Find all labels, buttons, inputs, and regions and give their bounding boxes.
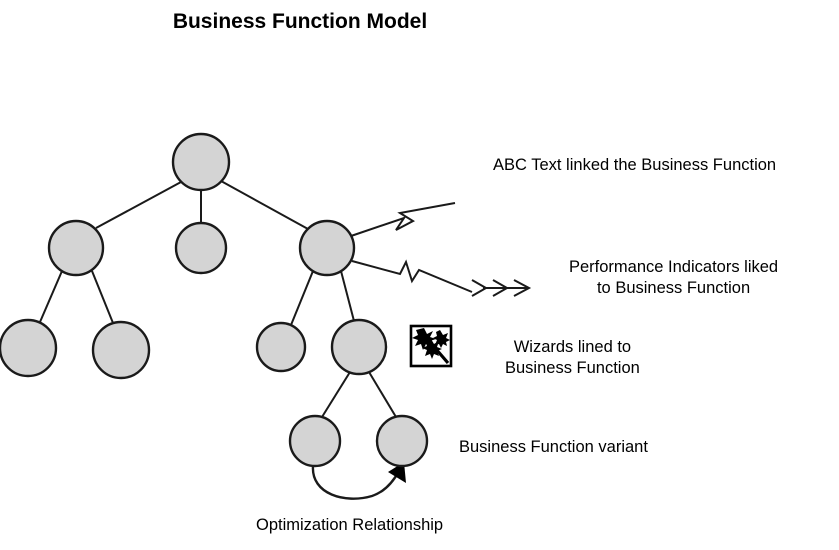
edge-l2c-l3d bbox=[341, 271, 354, 321]
label-optimization-relationship: Optimization Relationship bbox=[256, 515, 443, 536]
optimization-relationship-arrow bbox=[313, 462, 406, 499]
node-l3c[interactable] bbox=[257, 323, 305, 371]
label-wizards-line1: Wizards lined to bbox=[505, 337, 640, 358]
lightning-line-abc-text bbox=[351, 203, 455, 236]
node-l4b-variant[interactable] bbox=[377, 416, 427, 466]
diagram-canvas: Business Function Model bbox=[0, 0, 839, 550]
edge-l2c-l3c bbox=[291, 271, 313, 325]
edge-l2a-l3b bbox=[92, 271, 113, 323]
label-performance-indicators-line2: to Business Function bbox=[569, 278, 778, 299]
label-business-function-variant: Business Function variant bbox=[459, 437, 648, 458]
node-l2c[interactable] bbox=[300, 221, 354, 275]
tree-nodes bbox=[0, 134, 427, 466]
wizard-wand-icon[interactable] bbox=[411, 326, 451, 366]
label-wizards: Wizards lined to Business Function bbox=[505, 337, 640, 379]
label-abc-text: ABC Text linked the Business Function bbox=[493, 155, 776, 176]
node-root[interactable] bbox=[173, 134, 229, 190]
node-l3a[interactable] bbox=[0, 320, 56, 376]
node-l2b[interactable] bbox=[176, 223, 226, 273]
edge-l3d-l4a bbox=[322, 372, 350, 417]
tree-edges bbox=[40, 181, 396, 417]
edge-l2a-l3a bbox=[40, 271, 62, 322]
node-l3b[interactable] bbox=[93, 322, 149, 378]
lightning-line-performance-indicators bbox=[352, 261, 472, 292]
label-performance-indicators-line1: Performance Indicators liked bbox=[569, 257, 778, 278]
node-l2a[interactable] bbox=[49, 221, 103, 275]
attachment-lines bbox=[351, 203, 472, 292]
edge-root-l2a bbox=[96, 182, 181, 228]
label-performance-indicators: Performance Indicators liked to Business… bbox=[569, 257, 778, 299]
node-l3d[interactable] bbox=[332, 320, 386, 374]
label-wizards-line2: Business Function bbox=[505, 358, 640, 379]
chevron-arrow-symbol bbox=[472, 280, 529, 296]
edge-l3d-l4b bbox=[369, 372, 396, 417]
node-l4a-variant[interactable] bbox=[290, 416, 340, 466]
optimization-curve bbox=[313, 466, 399, 499]
edge-root-l2c bbox=[221, 181, 308, 229]
